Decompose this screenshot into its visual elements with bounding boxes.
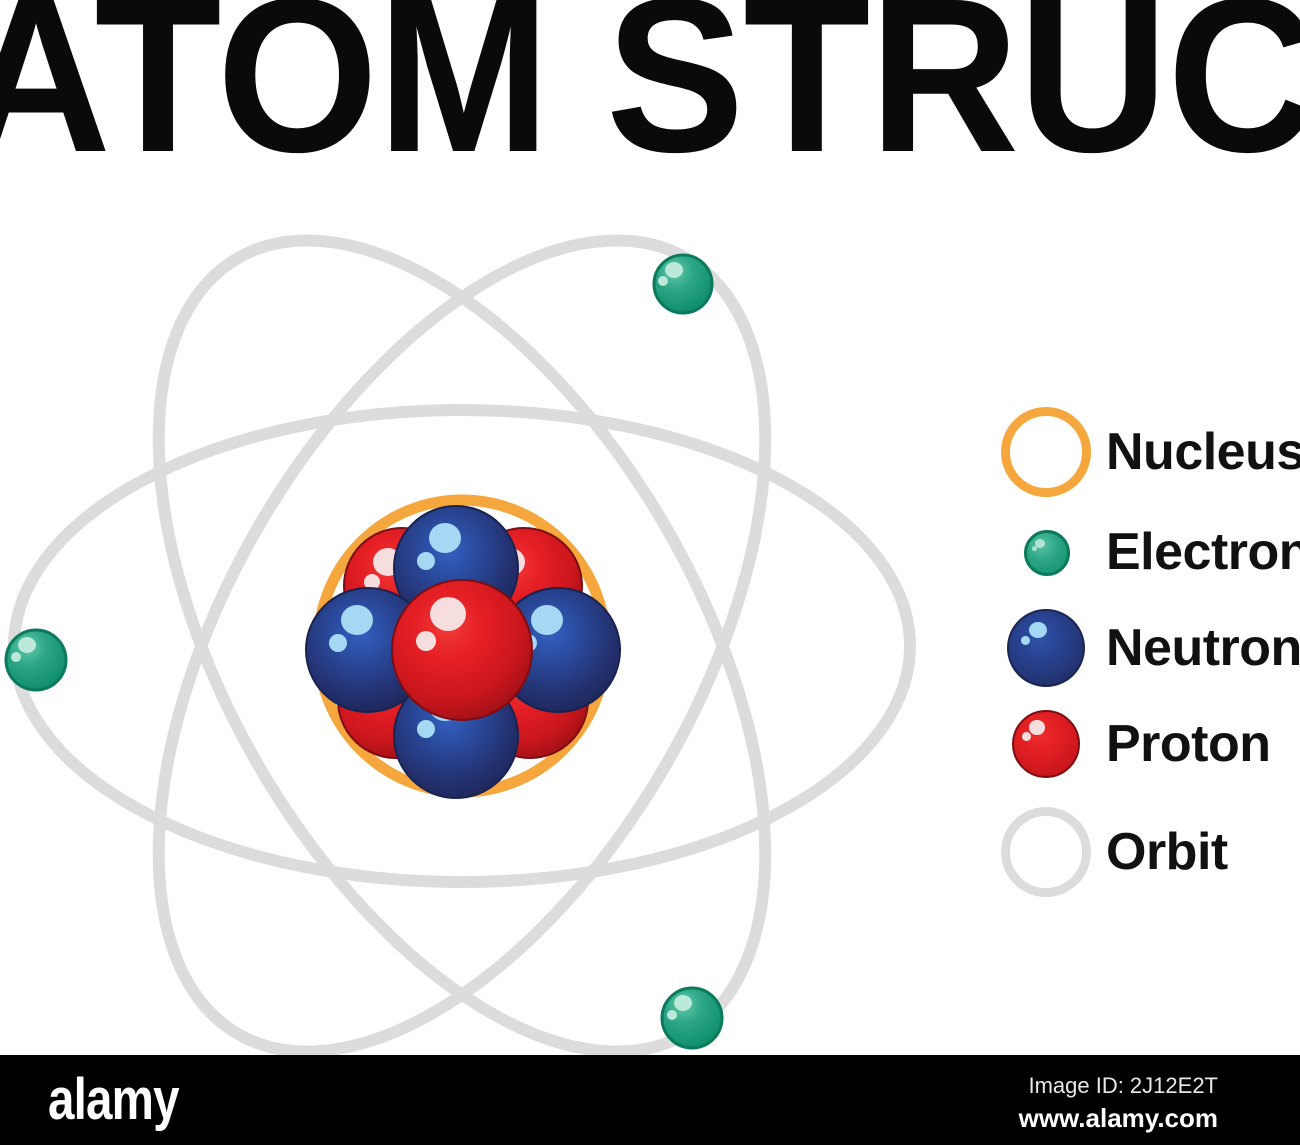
title-bar: ATOM STRUCTURE [0, 0, 1300, 185]
legend-label-proton: Proton [1106, 718, 1271, 770]
atom-svg [0, 180, 980, 1060]
legend-item-nucleus: Nucleus [998, 404, 1300, 500]
footer-url: www.alamy.com [1019, 1105, 1218, 1131]
alamy-watermark-bar: alamy Image ID: 2J12E2T www.alamy.com [0, 1055, 1300, 1145]
legend-item-proton: Proton [998, 696, 1271, 792]
legend-item-orbit: Orbit [998, 804, 1228, 900]
orbit-ring-icon [998, 804, 1094, 900]
proton-center [392, 580, 532, 720]
neutron-sphere-icon [998, 600, 1094, 696]
page-title: ATOM STRUCTURE [0, 0, 1300, 186]
legend-item-neutron: Neutron [998, 600, 1300, 696]
legend-label-neutron: Neutron [1106, 622, 1300, 674]
electron-bottom-right [662, 988, 722, 1048]
electron-top-right [654, 255, 712, 313]
legend-label-nucleus: Nucleus [1106, 426, 1300, 478]
atom-legend: Nucleus Electron Neutron Proton Orbit [998, 404, 1300, 904]
proton-sphere-icon [998, 696, 1094, 792]
alamy-logo: alamy [48, 1071, 179, 1129]
legend-item-electron: Electron [998, 504, 1300, 600]
electron-left [6, 630, 66, 690]
nucleus-ring-icon [998, 404, 1094, 500]
footer-image-id: Image ID: 2J12E2T [1028, 1075, 1218, 1097]
legend-label-orbit: Orbit [1106, 826, 1228, 878]
atom-illustration [0, 180, 980, 1060]
legend-label-electron: Electron [1106, 526, 1300, 578]
electron-sphere-icon [998, 504, 1094, 600]
